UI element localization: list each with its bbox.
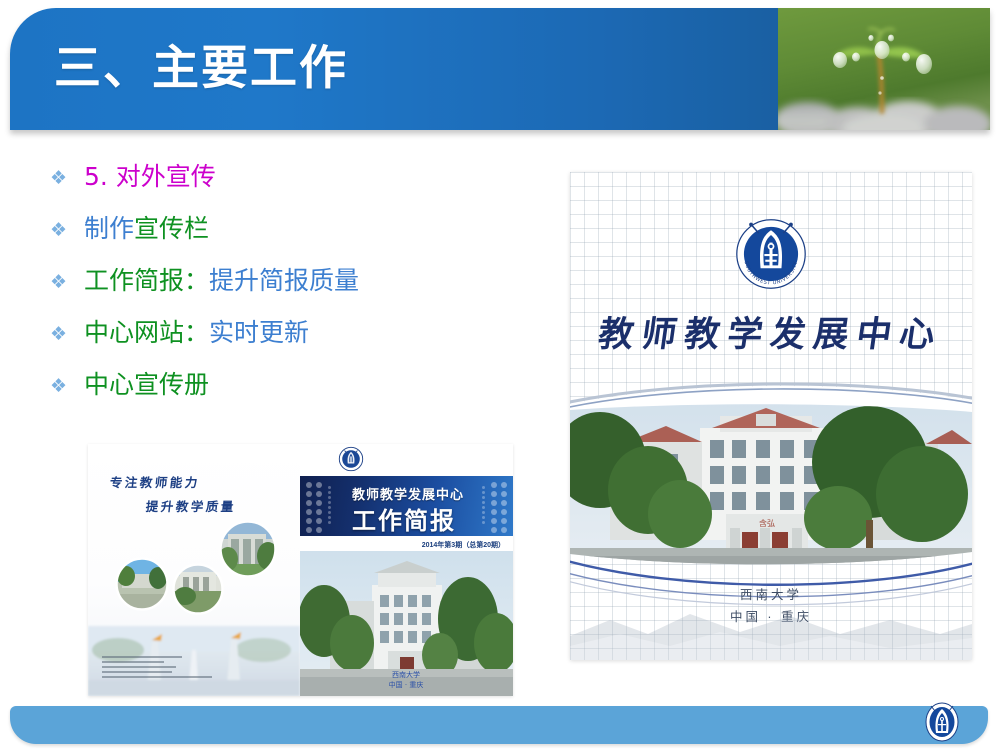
- swu-emblem-icon: [924, 702, 960, 742]
- swu-emblem-icon: [338, 446, 364, 472]
- diamond-bullet-icon: ❖: [50, 210, 84, 248]
- text-segment: 制作: [84, 214, 134, 243]
- brochure-back-cover: 专注教师能力 提升教学质量: [88, 444, 300, 696]
- swu-emblem-icon: SOUTHWEST UNIVERSITY: [733, 216, 809, 292]
- text-segment: 实时更新: [209, 318, 309, 347]
- diamond-bullet-icon: ❖: [50, 314, 84, 352]
- text-segment: 5. 对外宣传: [84, 162, 216, 191]
- page-title: 三、主要工作: [54, 42, 348, 94]
- dot-pattern-left2: [316, 482, 322, 536]
- list-item: ❖ 中心宣传册: [50, 366, 550, 418]
- text-segment: 中心宣传册: [84, 370, 209, 399]
- brochure-image: 专注教师能力 提升教学质量: [88, 444, 513, 696]
- sprout-photo: [778, 8, 990, 130]
- misty-mountain-decoration: [570, 590, 972, 660]
- list-item-text: 工作简报：提升简报质量: [84, 262, 359, 298]
- newsletter-title: 工作简报: [352, 501, 456, 536]
- text-segment: 提升简报质量: [209, 266, 359, 295]
- poster-title: 教师教学发展中心: [570, 306, 972, 357]
- dot-pattern-right3: [482, 486, 485, 526]
- poster-building-photo: 含弘: [570, 402, 972, 577]
- text-segment: 工作简报：: [84, 266, 209, 295]
- brochure-building-photo: 西南大学 中国 · 重庆: [300, 551, 513, 696]
- svg-text:中国 · 重庆: 中国 · 重庆: [389, 680, 424, 689]
- dot-pattern-right2: [491, 482, 497, 536]
- bullet-list: ❖ 5. 对外宣传 ❖ 制作宣传栏 ❖ 工作简报：提升简报质量 ❖ 中心网站：实…: [50, 158, 550, 418]
- list-item-text: 制作宣传栏: [84, 210, 209, 246]
- footer-band: [10, 706, 988, 744]
- list-item: ❖ 制作宣传栏: [50, 210, 550, 262]
- list-item: ❖ 5. 对外宣传: [50, 158, 550, 210]
- text-segment: 宣传栏: [134, 214, 209, 243]
- poster-image: SOUTHWEST UNIVERSITY 教师教学发展中心: [570, 172, 972, 660]
- list-item-text: 中心网站：实时更新: [84, 314, 309, 350]
- diamond-bullet-icon: ❖: [50, 262, 84, 300]
- brochure-back-graphics: [88, 444, 300, 696]
- brochure-front-cover: 教师教学发展中心 工作简报 2014年第3期（总第20期）: [300, 444, 513, 696]
- diamond-bullet-icon: ❖: [50, 366, 84, 404]
- dot-pattern-left: [306, 482, 312, 536]
- newsletter-issue-label: 2014年第3期（总第20期）: [422, 540, 505, 550]
- diamond-bullet-icon: ❖: [50, 158, 84, 196]
- dot-pattern-left3: [328, 486, 331, 526]
- newsletter-banner: 教师教学发展中心 工作简报: [300, 476, 513, 536]
- list-item: ❖ 工作简报：提升简报质量: [50, 262, 550, 314]
- list-item: ❖ 中心网站：实时更新: [50, 314, 550, 366]
- svg-text:含弘: 含弘: [759, 518, 775, 528]
- slide: 三、主要工作: [0, 0, 1000, 750]
- list-item-text: 5. 对外宣传: [84, 158, 216, 194]
- svg-text:西南大学: 西南大学: [392, 670, 420, 679]
- list-item-text: 中心宣传册: [84, 366, 209, 402]
- dot-pattern-right: [501, 482, 507, 536]
- title-bar: 三、主要工作: [10, 8, 990, 130]
- text-segment: 中心网站：: [84, 318, 209, 347]
